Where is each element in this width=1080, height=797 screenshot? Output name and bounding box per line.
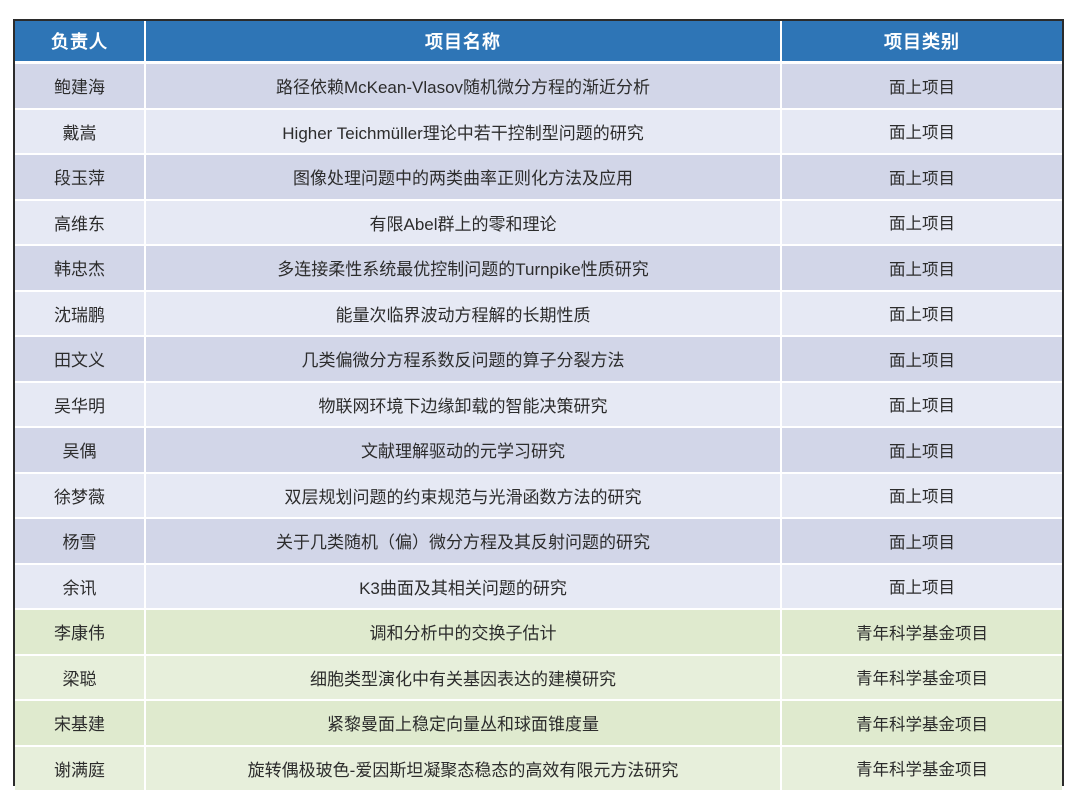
- cell-project-category: 面上项目: [781, 109, 1062, 155]
- cell-project-name: 能量次临界波动方程解的长期性质: [145, 291, 781, 337]
- table-row: 吴偶文献理解驱动的元学习研究面上项目: [15, 427, 1062, 473]
- cell-owner: 宋基建: [15, 700, 145, 746]
- cell-project-name: Higher Teichmüller理论中若干控制型问题的研究: [145, 109, 781, 155]
- cell-project-name: 细胞类型演化中有关基因表达的建模研究: [145, 655, 781, 701]
- cell-project-name: 物联网环境下边缘卸载的智能决策研究: [145, 382, 781, 428]
- cell-project-category: 面上项目: [781, 518, 1062, 564]
- table-row: 戴嵩Higher Teichmüller理论中若干控制型问题的研究面上项目: [15, 109, 1062, 155]
- table-row: 吴华明物联网环境下边缘卸载的智能决策研究面上项目: [15, 382, 1062, 428]
- column-header-category: 项目类别: [781, 21, 1062, 63]
- cell-owner: 沈瑞鹏: [15, 291, 145, 337]
- cell-project-category: 面上项目: [781, 200, 1062, 246]
- grant-table: 负责人 项目名称 项目类别 鲍建海路径依赖McKean-Vlasov随机微分方程…: [15, 21, 1062, 790]
- cell-owner: 戴嵩: [15, 109, 145, 155]
- cell-owner: 吴华明: [15, 382, 145, 428]
- cell-project-name: 关于几类随机（偏）微分方程及其反射问题的研究: [145, 518, 781, 564]
- table-row: 高维东有限Abel群上的零和理论面上项目: [15, 200, 1062, 246]
- table-row: 李康伟调和分析中的交换子估计青年科学基金项目: [15, 609, 1062, 655]
- cell-project-category: 青年科学基金项目: [781, 609, 1062, 655]
- cell-project-category: 青年科学基金项目: [781, 746, 1062, 791]
- cell-owner: 高维东: [15, 200, 145, 246]
- table-row: 韩忠杰多连接柔性系统最优控制问题的Turnpike性质研究面上项目: [15, 245, 1062, 291]
- table-row: 梁聪细胞类型演化中有关基因表达的建模研究青年科学基金项目: [15, 655, 1062, 701]
- table-row: 余讯K3曲面及其相关问题的研究面上项目: [15, 564, 1062, 610]
- cell-project-category: 青年科学基金项目: [781, 700, 1062, 746]
- cell-owner: 徐梦薇: [15, 473, 145, 519]
- cell-project-category: 面上项目: [781, 291, 1062, 337]
- table-row: 段玉萍图像处理问题中的两类曲率正则化方法及应用面上项目: [15, 154, 1062, 200]
- cell-project-category: 面上项目: [781, 427, 1062, 473]
- cell-owner: 李康伟: [15, 609, 145, 655]
- cell-owner: 谢满庭: [15, 746, 145, 791]
- cell-owner: 杨雪: [15, 518, 145, 564]
- cell-owner: 段玉萍: [15, 154, 145, 200]
- cell-owner: 余讯: [15, 564, 145, 610]
- cell-project-category: 面上项目: [781, 336, 1062, 382]
- column-header-name: 项目名称: [145, 21, 781, 63]
- cell-project-name: 多连接柔性系统最优控制问题的Turnpike性质研究: [145, 245, 781, 291]
- cell-project-name: 紧黎曼面上稳定向量丛和球面锥度量: [145, 700, 781, 746]
- cell-owner: 田文义: [15, 336, 145, 382]
- grant-table-container: 负责人 项目名称 项目类别 鲍建海路径依赖McKean-Vlasov随机微分方程…: [13, 19, 1064, 786]
- cell-project-category: 面上项目: [781, 473, 1062, 519]
- table-row: 鲍建海路径依赖McKean-Vlasov随机微分方程的渐近分析面上项目: [15, 63, 1062, 109]
- table-header: 负责人 项目名称 项目类别: [15, 21, 1062, 63]
- cell-project-name: 路径依赖McKean-Vlasov随机微分方程的渐近分析: [145, 63, 781, 109]
- table-body: 鲍建海路径依赖McKean-Vlasov随机微分方程的渐近分析面上项目戴嵩Hig…: [15, 63, 1062, 791]
- cell-owner: 鲍建海: [15, 63, 145, 109]
- cell-owner: 韩忠杰: [15, 245, 145, 291]
- column-header-owner: 负责人: [15, 21, 145, 63]
- cell-project-name: 双层规划问题的约束规范与光滑函数方法的研究: [145, 473, 781, 519]
- table-row: 杨雪关于几类随机（偏）微分方程及其反射问题的研究面上项目: [15, 518, 1062, 564]
- cell-project-name: 文献理解驱动的元学习研究: [145, 427, 781, 473]
- cell-project-name: 旋转偶极玻色-爱因斯坦凝聚态稳态的高效有限元方法研究: [145, 746, 781, 791]
- table-row: 徐梦薇双层规划问题的约束规范与光滑函数方法的研究面上项目: [15, 473, 1062, 519]
- cell-project-category: 面上项目: [781, 154, 1062, 200]
- table-row: 沈瑞鹏能量次临界波动方程解的长期性质面上项目: [15, 291, 1062, 337]
- table-row: 谢满庭旋转偶极玻色-爱因斯坦凝聚态稳态的高效有限元方法研究青年科学基金项目: [15, 746, 1062, 791]
- cell-project-category: 面上项目: [781, 564, 1062, 610]
- table-row: 宋基建紧黎曼面上稳定向量丛和球面锥度量青年科学基金项目: [15, 700, 1062, 746]
- table-header-row: 负责人 项目名称 项目类别: [15, 21, 1062, 63]
- cell-project-category: 青年科学基金项目: [781, 655, 1062, 701]
- cell-project-name: 调和分析中的交换子估计: [145, 609, 781, 655]
- cell-project-category: 面上项目: [781, 382, 1062, 428]
- cell-owner: 梁聪: [15, 655, 145, 701]
- cell-project-name: 有限Abel群上的零和理论: [145, 200, 781, 246]
- cell-owner: 吴偶: [15, 427, 145, 473]
- cell-project-category: 面上项目: [781, 245, 1062, 291]
- cell-project-name: 几类偏微分方程系数反问题的算子分裂方法: [145, 336, 781, 382]
- cell-project-name: 图像处理问题中的两类曲率正则化方法及应用: [145, 154, 781, 200]
- cell-project-category: 面上项目: [781, 63, 1062, 109]
- table-row: 田文义几类偏微分方程系数反问题的算子分裂方法面上项目: [15, 336, 1062, 382]
- cell-project-name: K3曲面及其相关问题的研究: [145, 564, 781, 610]
